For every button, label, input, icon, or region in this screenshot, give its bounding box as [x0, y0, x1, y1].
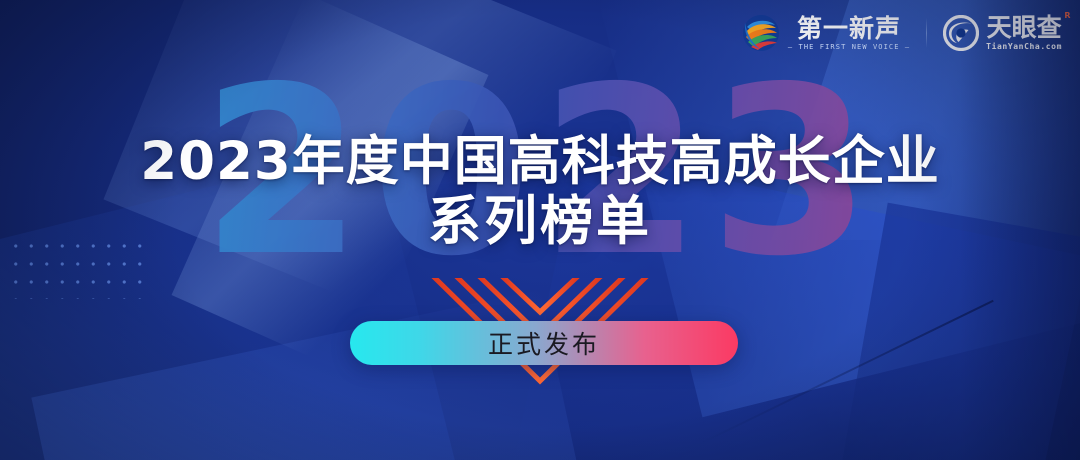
logo-tianyancha-cn-label: 天眼查: [987, 13, 1062, 42]
aperture-eye-icon: [943, 15, 979, 51]
registered-trademark-icon: R: [1064, 12, 1070, 20]
page-title: 2023年度中国高科技高成长企业 系列榜单: [0, 132, 1080, 252]
logo-tianyancha-cn: 天眼查R: [987, 15, 1062, 40]
logo-diyixinsheng[interactable]: 第一新声 — THE FIRST NEW VOICE —: [741, 14, 910, 52]
facet-bottom-left-2: [31, 290, 608, 460]
logo-tianyancha-text: 天眼查R TianYanCha.com: [986, 15, 1062, 51]
logo-bar: 第一新声 — THE FIRST NEW VOICE — 天眼查R TianYa…: [741, 14, 1062, 52]
logo-tianyancha-en: TianYanCha.com: [986, 43, 1062, 51]
release-badge[interactable]: 正式发布: [350, 321, 738, 365]
swirl-globe-icon: [741, 14, 781, 52]
headline-line-2: 系列榜单: [0, 192, 1080, 252]
logo-diyixinsheng-en: — THE FIRST NEW VOICE —: [788, 44, 910, 51]
facet-edge-line: [696, 300, 993, 446]
logo-tianyancha[interactable]: 天眼查R TianYanCha.com: [943, 15, 1062, 51]
headline-line-1: 2023年度中国高科技高成长企业: [0, 132, 1080, 192]
release-badge-label: 正式发布: [488, 325, 600, 361]
promo-banner: 2023 2023年度中国高科技高成长企业 系列榜单: [0, 0, 1080, 460]
logo-divider: [926, 18, 927, 48]
logo-diyixinsheng-text: 第一新声 — THE FIRST NEW VOICE —: [788, 16, 910, 51]
logo-diyixinsheng-cn: 第一新声: [797, 16, 901, 41]
